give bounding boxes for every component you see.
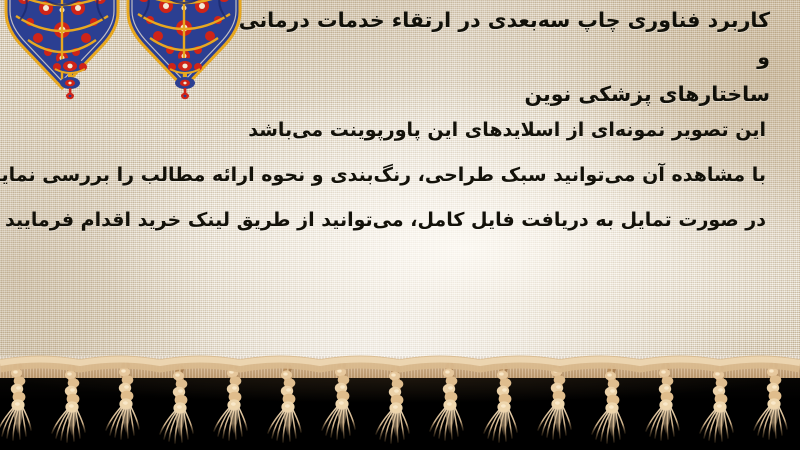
ornament-pendant-left (49, 57, 91, 107)
slide-canvas: کاربرد فناوری چاپ سه‌بعدی در ارتقاء خدما… (0, 0, 800, 450)
page-title: کاربرد فناوری چاپ سه‌بعدی در ارتقاء خدما… (225, 2, 770, 113)
carpet-fringe-tassels (0, 352, 800, 450)
body-line-3: در صورت تمایل به دریافت فایل کامل، می‌تو… (36, 198, 766, 243)
ornament-pendant-right (164, 57, 206, 107)
body-line-1: این تصویر نمونه‌ای از اسلایدهای این پاور… (36, 108, 766, 153)
slide-body-text: این تصویر نمونه‌ای از اسلایدهای این پاور… (36, 108, 766, 243)
body-line-2: با مشاهده آن می‌توانید سبک طراحی، رنگ‌بن… (36, 153, 766, 198)
